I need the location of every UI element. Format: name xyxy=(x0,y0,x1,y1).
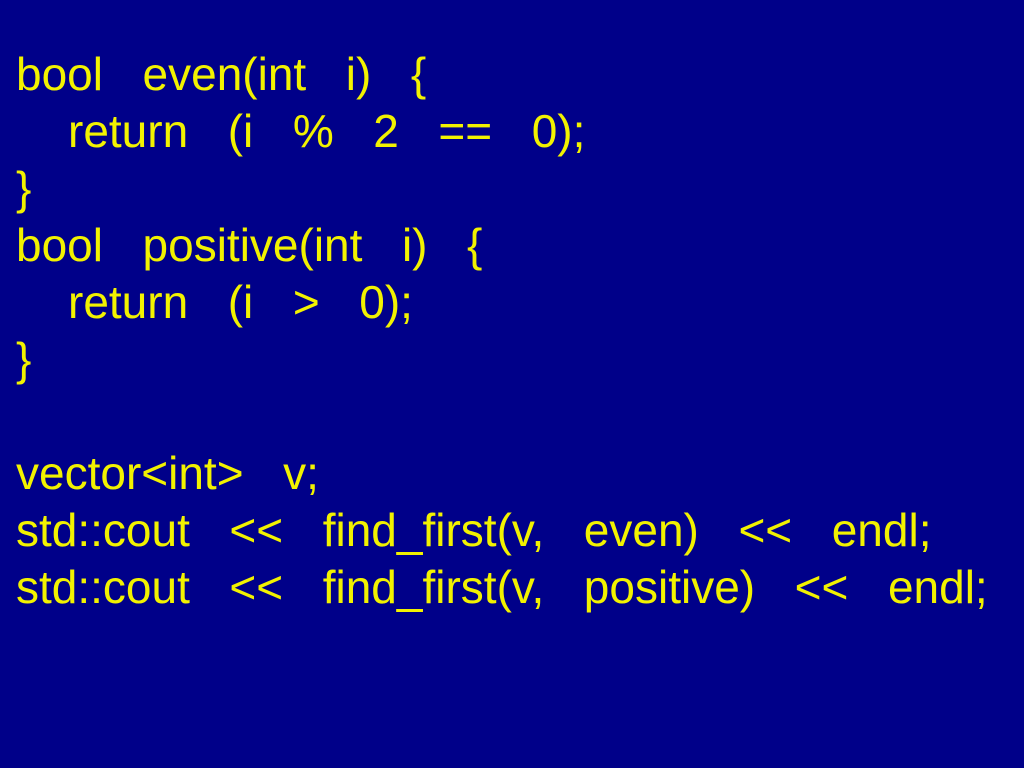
code-line: bool even(int i) { xyxy=(0,46,1024,103)
code-line: return (i % 2 == 0); xyxy=(0,103,1024,160)
code-line: bool positive(int i) { xyxy=(0,217,1024,274)
code-slide: bool even(int i) {return (i % 2 == 0);}b… xyxy=(0,0,1024,768)
code-line: } xyxy=(0,160,1024,217)
code-line: } xyxy=(0,331,1024,388)
code-line: return (i > 0); xyxy=(0,274,1024,331)
code-line: std::cout << find_first(v, positive) << … xyxy=(0,559,1024,616)
code-line: vector<int> v; xyxy=(0,445,1024,502)
code-block: bool even(int i) {return (i % 2 == 0);}b… xyxy=(0,46,1024,616)
code-line-blank xyxy=(0,388,1024,445)
code-line: std::cout << find_first(v, even) << endl… xyxy=(0,502,1024,559)
